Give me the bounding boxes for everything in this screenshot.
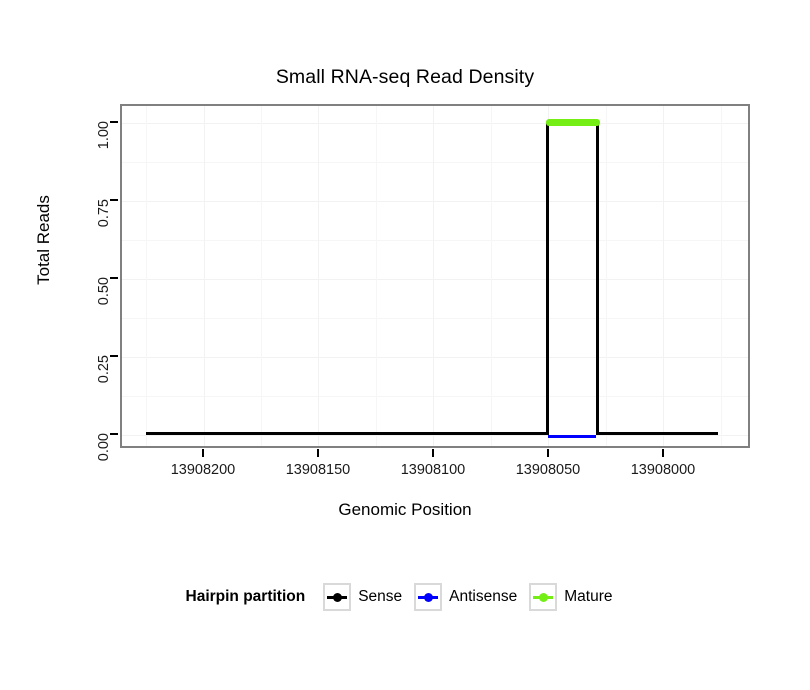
x-tick-label: 13908000	[593, 462, 733, 478]
legend-item-mature[interactable]: Mature	[529, 583, 612, 611]
series-sense-baseline-right	[596, 432, 718, 435]
gridline-vertical	[663, 106, 664, 446]
legend: Hairpin partition Sense Antisense	[0, 583, 810, 611]
legend-key-sense-icon	[323, 583, 351, 611]
gridline-horizontal-minor	[122, 396, 748, 397]
gridline-vertical-minor	[261, 106, 262, 446]
legend-item-sense[interactable]: Sense	[323, 583, 402, 611]
legend-label-mature: Mature	[564, 588, 612, 606]
gridline-horizontal-minor	[122, 318, 748, 319]
gridline-vertical-minor	[146, 106, 147, 446]
gridline-horizontal	[122, 357, 748, 358]
gridline-horizontal	[122, 123, 748, 124]
y-tick-label: 0.00	[95, 433, 113, 543]
y-axis-title: Total Reads	[34, 110, 54, 370]
chart-title: Small RNA-seq Read Density	[0, 66, 810, 89]
legend-key-antisense-icon	[414, 583, 442, 611]
legend-label-sense: Sense	[358, 588, 402, 606]
x-axis-title: Genomic Position	[0, 500, 810, 520]
gridline-vertical	[318, 106, 319, 446]
legend-item-antisense[interactable]: Antisense	[414, 583, 517, 611]
x-tick-mark	[202, 449, 204, 457]
gridline-vertical	[433, 106, 434, 446]
series-antisense	[548, 435, 596, 438]
series-sense-riser-left	[546, 123, 549, 435]
gridline-vertical-minor	[376, 106, 377, 446]
legend-key-mature-icon	[529, 583, 557, 611]
gridline-vertical-minor	[606, 106, 607, 446]
series-mature	[546, 119, 600, 126]
legend-label-antisense: Antisense	[449, 588, 517, 606]
x-tick-mark	[432, 449, 434, 457]
gridline-horizontal	[122, 201, 748, 202]
chart-figure: Small RNA-seq Read Density Total Reads 1…	[0, 0, 810, 690]
gridline-horizontal	[122, 279, 748, 280]
x-tick-mark	[547, 449, 549, 457]
plot-panel	[120, 104, 750, 448]
gridline-horizontal-minor	[122, 162, 748, 163]
gridline-vertical-minor	[721, 106, 722, 446]
gridline-horizontal	[122, 435, 748, 436]
x-tick-mark	[317, 449, 319, 457]
series-sense-riser-right	[596, 123, 599, 435]
legend-title: Hairpin partition	[186, 588, 306, 606]
series-sense-baseline-left	[146, 432, 548, 435]
gridline-vertical-minor	[491, 106, 492, 446]
gridline-horizontal-minor	[122, 240, 748, 241]
gridline-vertical	[204, 106, 205, 446]
plot-area	[122, 106, 748, 446]
x-tick-mark	[662, 449, 664, 457]
